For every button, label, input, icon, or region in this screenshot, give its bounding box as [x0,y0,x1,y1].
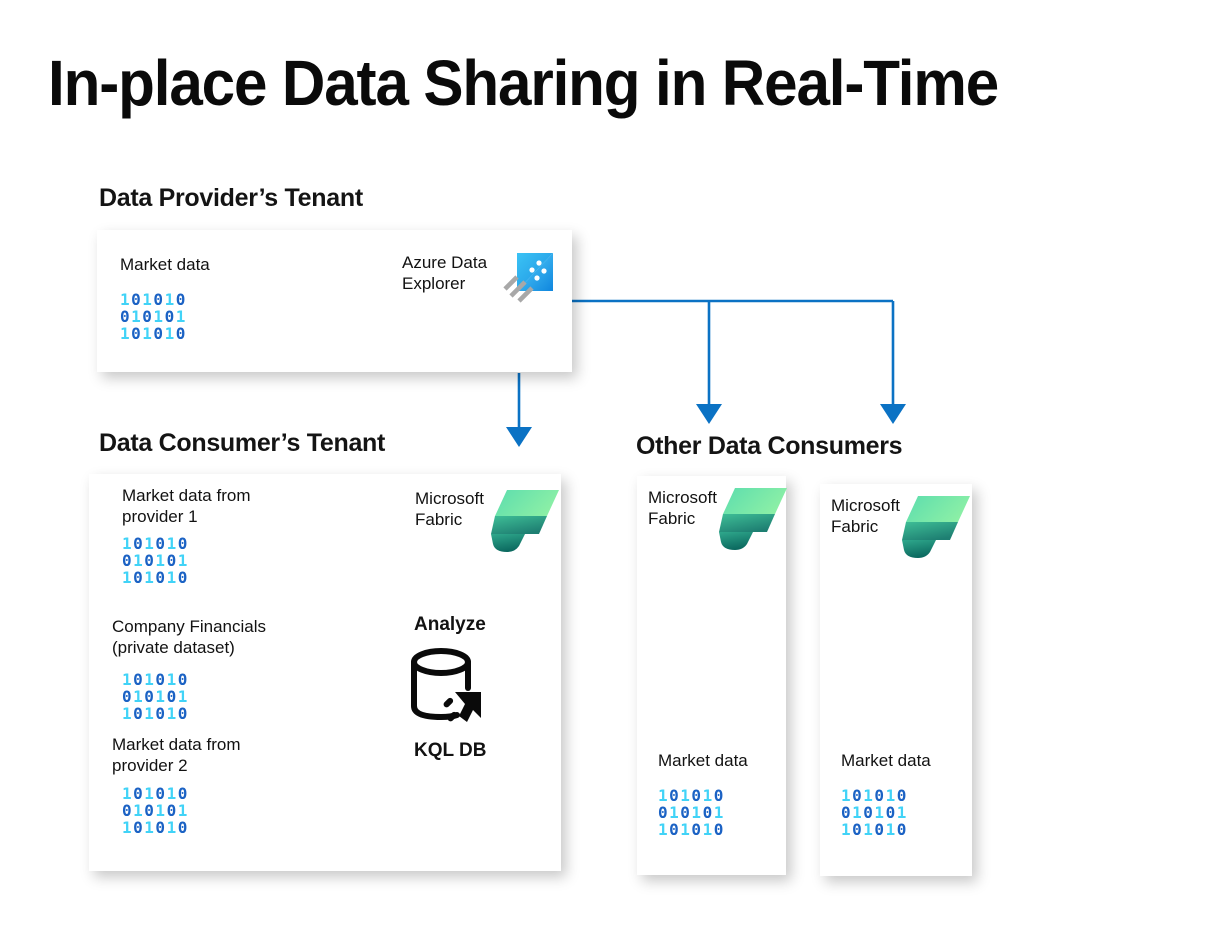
binary-row: 101010 [120,291,187,308]
analyze-label: Analyze [414,614,486,635]
microsoft-fabric-icon [485,482,565,554]
binary-row: 101010 [122,705,189,722]
binary-row: 101010 [841,787,908,804]
provider-tenant-card: Market data 101010010101101010 Azure Dat… [97,230,572,372]
consumer-binary-data-1: 101010010101101010 [122,535,189,586]
microsoft-fabric-icon [713,480,793,552]
binary-row: 010101 [658,804,725,821]
binary-row: 010101 [120,308,187,325]
binary-row: 101010 [122,785,189,802]
consumer-dataset-1-label: Market data from provider 1 [122,485,251,527]
binary-row: 101010 [122,671,189,688]
consumer-platform-label: Microsoft Fabric [415,488,484,530]
provider-market-data-label: Market data [120,254,210,275]
azure-data-explorer-icon [501,249,557,307]
binary-row: 010101 [122,802,189,819]
other-consumer-card-1: Microsoft Fabric Market data 10101001010… [637,476,786,875]
section-heading-other-consumers: Other Data Consumers [636,432,902,461]
other-2-platform-label: Microsoft Fabric [831,495,900,537]
other-1-platform-label: Microsoft Fabric [648,487,717,529]
binary-row: 101010 [120,325,187,342]
binary-row: 010101 [841,804,908,821]
consumer-dataset-2-label: Company Financials (private dataset) [112,616,266,658]
other-1-market-data-label: Market data [658,750,748,771]
consumer-dataset-3-label: Market data from provider 2 [112,734,241,776]
binary-row: 101010 [841,821,908,838]
consumer-tenant-card: Market data from provider 1 101010010101… [89,474,561,871]
microsoft-fabric-icon [896,488,976,560]
section-heading-provider: Data Provider’s Tenant [99,184,363,213]
azure-data-explorer-label: Azure Data Explorer [402,252,487,294]
consumer-binary-data-2: 101010010101101010 [122,671,189,722]
binary-row: 010101 [122,552,189,569]
other-2-binary-data: 101010010101101010 [841,787,908,838]
other-consumer-card-2: Microsoft Fabric Market data 10101001010… [820,484,972,876]
page-title: In-place Data Sharing in Real-Time [48,46,998,120]
kql-db-label: KQL DB [414,740,486,761]
other-1-binary-data: 101010010101101010 [658,787,725,838]
diagram-canvas: In-place Data Sharing in Real-Time Data … [0,0,1219,940]
kql-database-icon [407,646,485,728]
binary-row: 101010 [658,821,725,838]
binary-row: 101010 [122,819,189,836]
binary-row: 101010 [122,569,189,586]
binary-row: 101010 [658,787,725,804]
binary-row: 010101 [122,688,189,705]
section-heading-consumer: Data Consumer’s Tenant [99,429,385,458]
consumer-binary-data-3: 101010010101101010 [122,785,189,836]
provider-binary-data: 101010010101101010 [120,291,187,342]
binary-row: 101010 [122,535,189,552]
other-2-market-data-label: Market data [841,750,931,771]
